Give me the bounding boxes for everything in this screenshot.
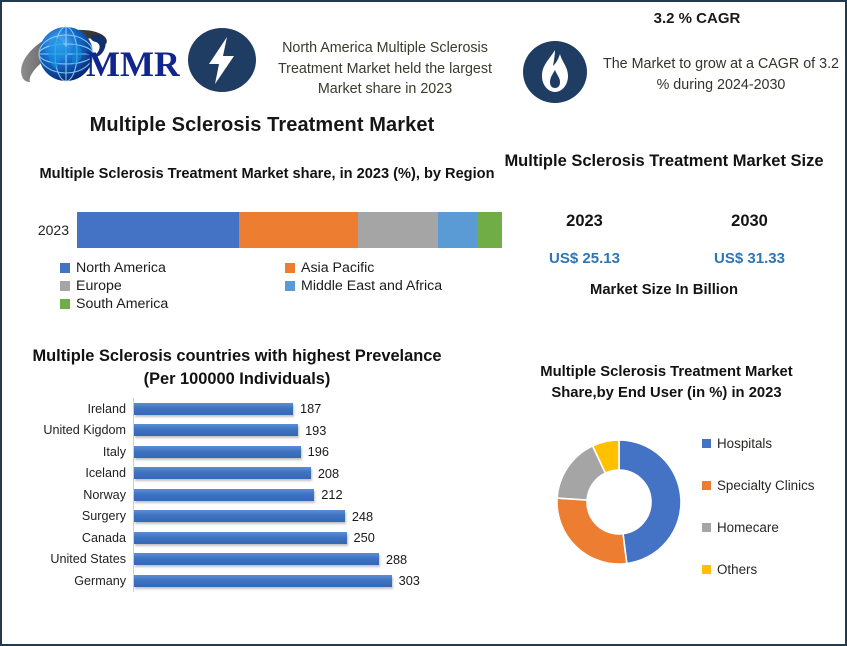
- market-size-unit: Market Size In Billion: [494, 282, 834, 298]
- region-chart-title: Multiple Sclerosis Treatment Market shar…: [32, 164, 502, 185]
- end-user-legend-label: Hospitals: [717, 436, 772, 451]
- region-legend-item: Asia Pacific: [285, 260, 510, 276]
- prevalence-category-label: Italy: [16, 445, 133, 459]
- prevalence-row: Italy196: [16, 441, 452, 463]
- prevalence-track: 193: [133, 420, 452, 442]
- legend-swatch-icon: [285, 281, 295, 291]
- prevalence-track: 248: [133, 506, 452, 528]
- market-size-year-start: 2023: [502, 212, 667, 231]
- region-legend-item: Middle East and Africa: [285, 278, 510, 294]
- market-size-value-end: US$ 31.33: [667, 250, 832, 267]
- prevalence-row: United Kigdom193: [16, 420, 452, 442]
- prevalence-chart-title: Multiple Sclerosis countries with highes…: [22, 345, 452, 391]
- prevalence-track: 208: [133, 463, 452, 485]
- legend-swatch-icon: [702, 439, 711, 448]
- infographic-canvas: MMR North America Multiple Sclerosis Tre…: [0, 0, 847, 646]
- legend-swatch-icon: [60, 299, 70, 309]
- region-segment: [438, 212, 476, 248]
- region-legend-item: South America: [60, 296, 285, 312]
- prevalence-value-label: 303: [399, 573, 420, 588]
- region-stacked-bar-row: 2023: [22, 210, 502, 250]
- end-user-donut-chart: [554, 437, 684, 567]
- prevalence-value-label: 187: [300, 401, 321, 416]
- prevalence-value-label: 250: [354, 530, 375, 545]
- end-user-legend-item: Others: [702, 548, 842, 590]
- prevalence-row: United States288: [16, 549, 452, 571]
- flame-icon: [522, 40, 588, 104]
- region-legend-label: Asia Pacific: [301, 260, 374, 276]
- prevalence-value-label: 288: [386, 552, 407, 567]
- legend-swatch-icon: [60, 263, 70, 273]
- prevalence-bar: [134, 489, 314, 501]
- prevalence-bar: [134, 575, 392, 587]
- legend-swatch-icon: [60, 281, 70, 291]
- header-note-right: The Market to grow at a CAGR of 3.2 % du…: [602, 54, 840, 95]
- prevalence-track: 303: [133, 570, 452, 592]
- header-note-left: North America Multiple Sclerosis Treatme…: [260, 38, 510, 100]
- page-title: Multiple Sclerosis Treatment Market: [42, 114, 482, 137]
- region-legend-label: Europe: [76, 278, 122, 294]
- prevalence-track: 187: [133, 398, 452, 420]
- end-user-legend: HospitalsSpecialty ClinicsHomecareOthers: [702, 422, 842, 590]
- end-user-legend-label: Specialty Clinics: [717, 478, 815, 493]
- prevalence-track: 288: [133, 549, 452, 571]
- end-user-legend-label: Homecare: [717, 520, 779, 535]
- legend-swatch-icon: [702, 565, 711, 574]
- prevalence-category-label: United States: [16, 552, 133, 566]
- region-legend-item: Europe: [60, 278, 285, 294]
- end-user-chart-title: Multiple Sclerosis Treatment Market Shar…: [514, 362, 819, 404]
- prevalence-bar: [134, 510, 345, 522]
- region-legend-item: North America: [60, 260, 285, 276]
- region-legend-label: South America: [76, 296, 168, 312]
- prevalence-bar: [134, 553, 379, 565]
- cagr-headline: 3.2 % CAGR: [602, 10, 792, 27]
- prevalence-category-label: Canada: [16, 531, 133, 545]
- region-legend-label: North America: [76, 260, 166, 276]
- prevalence-row: Iceland208: [16, 463, 452, 485]
- region-stacked-bar: [77, 212, 502, 248]
- prevalence-row: Norway212: [16, 484, 452, 506]
- prevalence-value-label: 196: [308, 444, 329, 459]
- end-user-legend-item: Hospitals: [702, 422, 842, 464]
- prevalence-category-label: Germany: [16, 574, 133, 588]
- mmr-logo: MMR: [14, 14, 180, 98]
- region-segment: [77, 212, 239, 248]
- end-user-legend-label: Others: [717, 562, 757, 577]
- end-user-legend-item: Specialty Clinics: [702, 464, 842, 506]
- donut-slice: [557, 498, 627, 564]
- market-size-year-end: 2030: [667, 212, 832, 231]
- prevalence-value-label: 208: [318, 466, 339, 481]
- prevalence-category-label: Iceland: [16, 466, 133, 480]
- end-user-legend-item: Homecare: [702, 506, 842, 548]
- prevalence-category-label: Ireland: [16, 402, 133, 416]
- prevalence-chart: Ireland187United Kigdom193Italy196Icelan…: [16, 398, 452, 592]
- donut-slice: [619, 440, 681, 564]
- market-size-years: 2023 2030: [502, 212, 832, 231]
- globe-swoosh-icon: MMR: [14, 14, 180, 98]
- prevalence-track: 250: [133, 527, 452, 549]
- prevalence-category-label: Norway: [16, 488, 133, 502]
- prevalence-bar: [134, 424, 298, 436]
- prevalence-row: Canada250: [16, 527, 452, 549]
- mmr-logo-text: MMR: [86, 44, 180, 84]
- market-size-value-start: US$ 25.13: [502, 250, 667, 267]
- market-size-values: US$ 25.13 US$ 31.33: [502, 250, 832, 267]
- region-legend: North AmericaAsia PacificEuropeMiddle Ea…: [60, 260, 510, 314]
- region-segment: [477, 212, 503, 248]
- prevalence-bar: [134, 532, 347, 544]
- legend-swatch-icon: [702, 481, 711, 490]
- prevalence-bar: [134, 467, 311, 479]
- prevalence-value-label: 212: [321, 487, 342, 502]
- prevalence-bar: [134, 446, 301, 458]
- prevalence-value-label: 248: [352, 509, 373, 524]
- region-axis-label: 2023: [22, 222, 77, 238]
- prevalence-track: 196: [133, 441, 452, 463]
- prevalence-category-label: United Kigdom: [16, 423, 133, 437]
- prevalence-track: 212: [133, 484, 452, 506]
- prevalence-value-label: 193: [305, 423, 326, 438]
- region-legend-label: Middle East and Africa: [301, 278, 442, 294]
- lightning-bolt-icon: [187, 27, 257, 93]
- prevalence-row: Ireland187: [16, 398, 452, 420]
- legend-swatch-icon: [702, 523, 711, 532]
- legend-swatch-icon: [285, 263, 295, 273]
- prevalence-category-label: Surgery: [16, 509, 133, 523]
- region-segment: [358, 212, 439, 248]
- prevalence-row: Germany303: [16, 570, 452, 592]
- prevalence-bar: [134, 403, 293, 415]
- market-size-title: Multiple Sclerosis Treatment Market Size: [494, 150, 834, 172]
- prevalence-row: Surgery248: [16, 506, 452, 528]
- region-segment: [239, 212, 358, 248]
